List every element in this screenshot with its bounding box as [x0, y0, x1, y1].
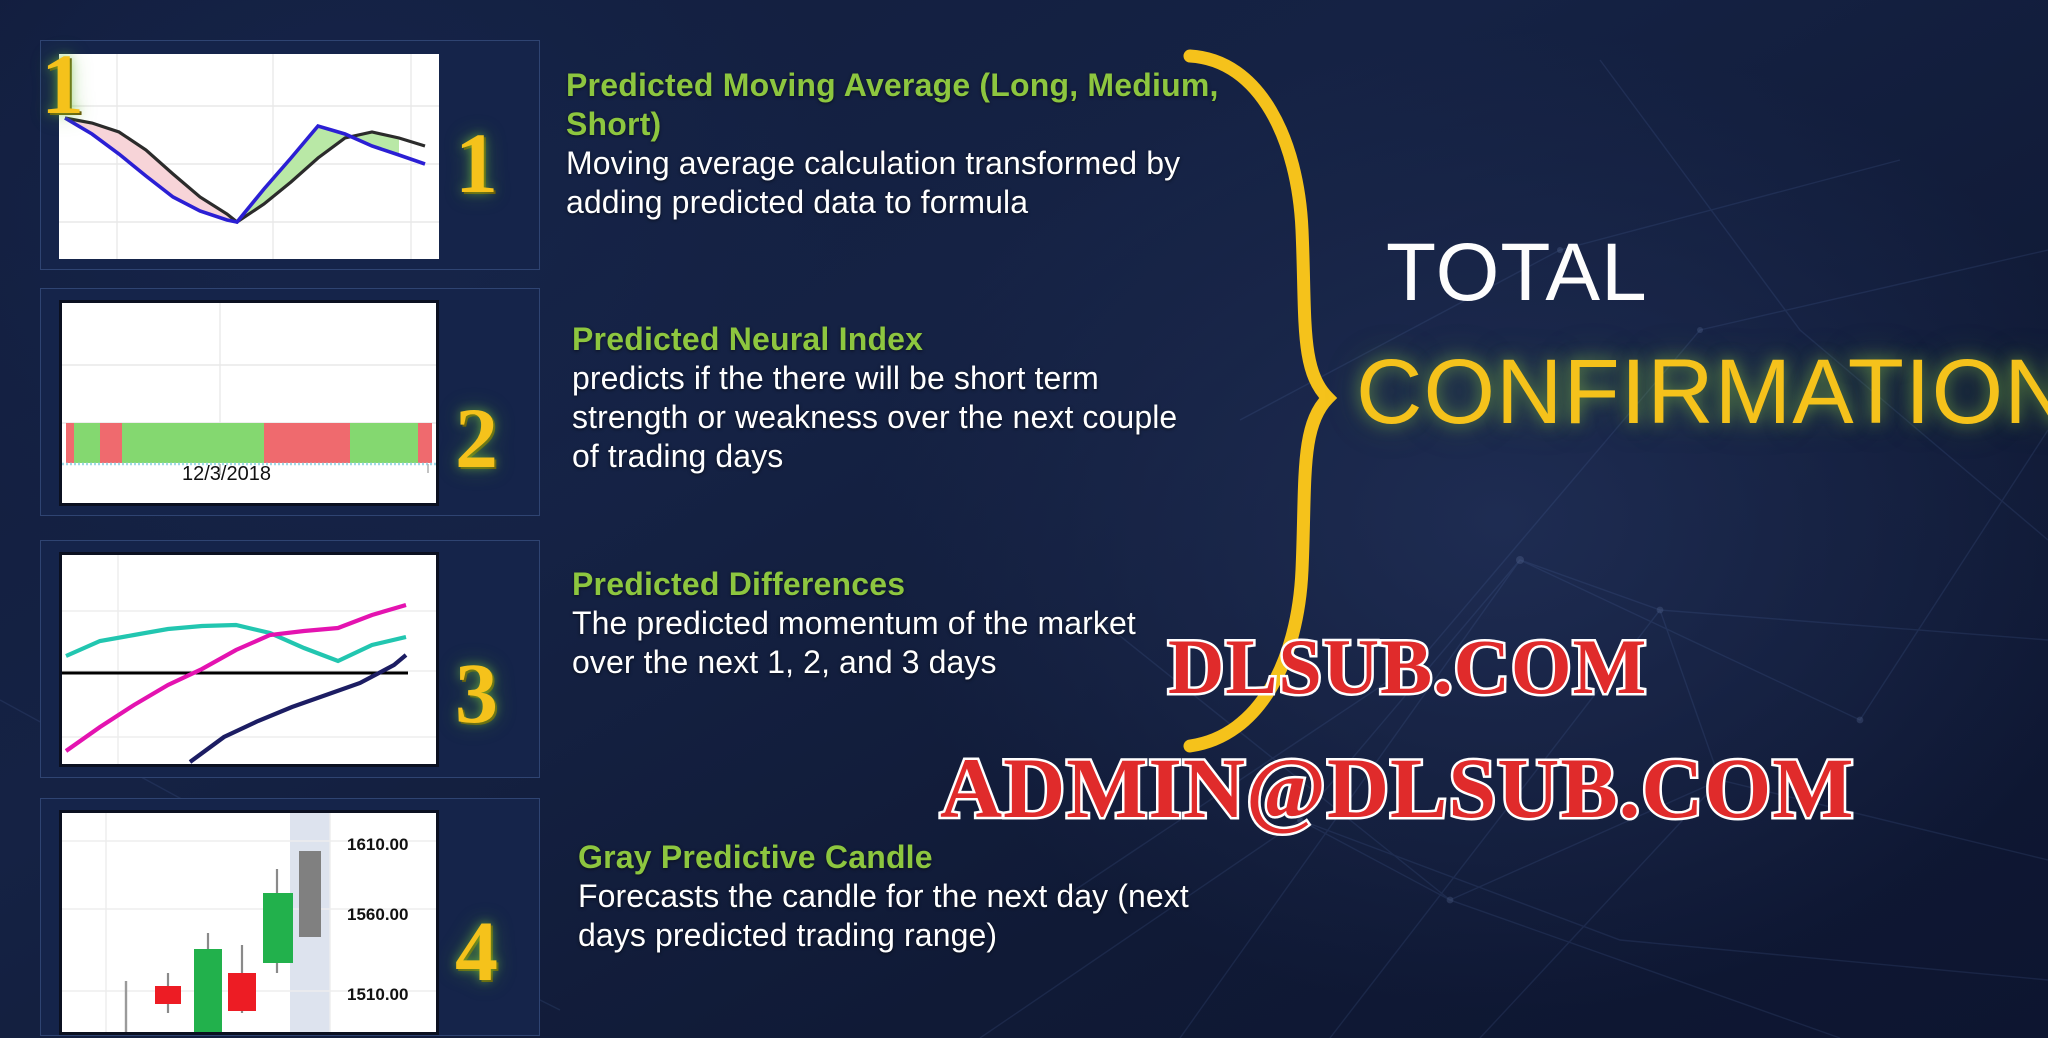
feature-title-2: Predicted Neural Index	[572, 320, 1212, 359]
headline-total: TOTAL	[1386, 226, 1648, 320]
price-label-mid: 1560.00	[347, 905, 408, 925]
neural-index-date-label: 12/3/2018	[182, 463, 271, 486]
watermark-site: DLSUB.COM	[1168, 622, 1647, 712]
step-number-1-glyph: 1	[455, 120, 498, 206]
step-number-3-glyph: 3	[455, 650, 498, 736]
infographic-canvas: 1 1	[0, 0, 2048, 1038]
feature-body-4: Forecasts the candle for the next day (n…	[578, 877, 1238, 955]
feature-body-3: The predicted momentum of the market ove…	[572, 604, 1152, 682]
feature-block-4: Gray Predictive Candle Forecasts the can…	[578, 838, 1238, 955]
feature-block-2: Predicted Neural Index predicts if the t…	[572, 320, 1212, 476]
predicted-moving-average-chart	[59, 54, 439, 259]
feature-title-3: Predicted Differences	[572, 565, 1152, 604]
predicted-differences-chart	[59, 552, 439, 767]
watermark-email: ADMIN@DLSUB.COM	[940, 738, 1854, 838]
step-number-4-glyph: 4	[455, 908, 498, 994]
step-number-1: 1	[41, 41, 84, 127]
price-label-bottom: 1510.00	[347, 985, 408, 1005]
feature-title-4: Gray Predictive Candle	[578, 838, 1238, 877]
feature-body-2: predicts if the there will be short term…	[572, 359, 1212, 476]
headline-confirmation: CONFIRMATION	[1356, 340, 2048, 445]
step-number-2-glyph: 2	[455, 395, 498, 481]
price-label-top: 1610.00	[347, 835, 408, 855]
gray-predictive-candle-chart: 1610.00 1560.00 1510.00	[59, 810, 439, 1035]
feature-block-3: Predicted Differences The predicted mome…	[572, 565, 1152, 682]
predicted-neural-index-chart: 12/3/2018	[59, 300, 439, 506]
